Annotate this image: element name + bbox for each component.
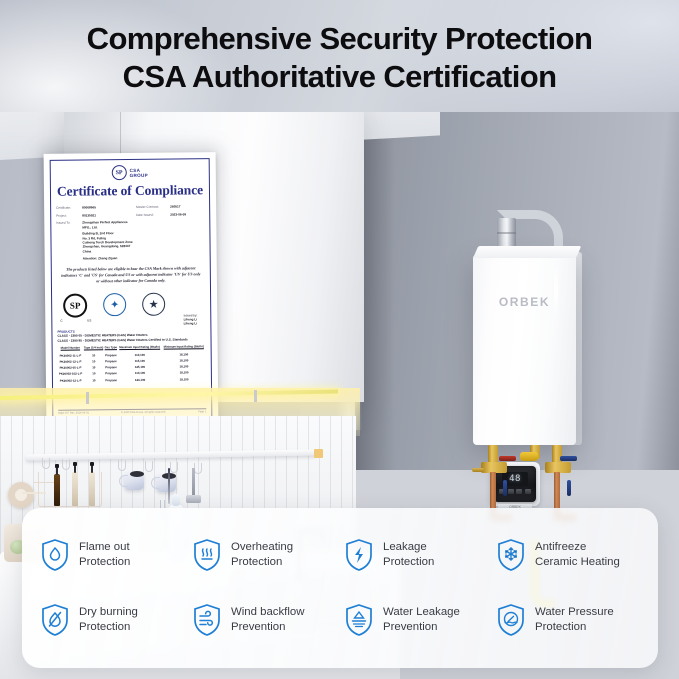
- feature-line-2: Prevention: [383, 620, 460, 635]
- field-value: 80135521: [82, 213, 136, 218]
- rail-hook: [170, 462, 178, 473]
- field-label: Project:: [56, 213, 82, 218]
- rack-shelf: [34, 482, 56, 483]
- class-line-2: CLASS - 2390 85 - DOMESTIC HEATERS (GAS)…: [58, 337, 206, 343]
- flue-seam: [497, 232, 516, 234]
- certificate-field-row: Project: 80135521 Date Issued: 2023-06-0…: [56, 212, 204, 218]
- valve-handle-red[interactable]: [499, 456, 516, 461]
- issued-to-label: Issued To:: [56, 221, 82, 230]
- feature-line-1: Flame out: [79, 541, 130, 553]
- feature-label: Overheating Protection: [231, 540, 293, 569]
- feature-line-1: Water Leakage: [383, 606, 460, 618]
- field-value2: 2023-06-09: [170, 212, 186, 217]
- feature-water-leakage-prevention: Water Leakage Prevention: [344, 587, 496, 652]
- feature-label: Antifreeze Ceramic Heating: [535, 540, 620, 569]
- rail-hook: [145, 461, 153, 472]
- issued-to-name: Zhongshan Perfect Appliances MFG., Ltd.: [82, 220, 136, 230]
- flame-icon: [40, 538, 70, 572]
- feature-line-1: Dry burning: [79, 606, 138, 618]
- certificate-title: Certificate of Compliance: [56, 182, 204, 200]
- kitchen-tool-handle: [192, 468, 195, 498]
- mark-us-label: US: [87, 318, 91, 322]
- issued-to-address: Building B, 2nd Floor No. 3 Rd, Fuling C…: [82, 231, 204, 254]
- feature-line-1: Wind backflow: [231, 606, 304, 618]
- csa-logo-line-2: GROUP: [130, 172, 148, 177]
- csa-mark-group: SP C US: [63, 293, 87, 317]
- issued-by-block: Issued by: Liheng Li Liheng Li: [184, 313, 198, 325]
- field-label2: Date Issued:: [136, 212, 170, 217]
- feature-label: Wind backflow Prevention: [231, 605, 304, 634]
- rail-hook: [62, 459, 70, 470]
- certificate-fields: Certificate: 80008665 Master Contract: 2…: [56, 204, 204, 230]
- feature-label: Water Pressure Protection: [535, 605, 614, 634]
- feature-wind-backflow-prevention: Wind backflow Prevention: [192, 587, 344, 652]
- heater-brand-logo: ORBEK: [473, 295, 576, 309]
- panel-button-up[interactable]: [516, 489, 522, 494]
- certificate-field-row: Certificate: 80008665 Master Contract: 2…: [56, 204, 204, 210]
- title-line-1: Comprehensive Security Protection: [87, 21, 593, 56]
- feature-water-pressure-protection: Water Pressure Protection: [496, 587, 648, 652]
- title-line-2: CSA Authoritative Certification: [0, 58, 679, 96]
- led-bracket: [254, 390, 257, 402]
- tankless-water-heater: [473, 255, 576, 445]
- field-label: Certificate:: [56, 206, 82, 211]
- feature-leakage-protection: Leakage Protection: [344, 522, 496, 587]
- rail-hook: [118, 460, 126, 471]
- kitchen-tool-head: [186, 495, 201, 503]
- temperature-value: 48: [509, 474, 521, 484]
- panel-button-mode[interactable]: [525, 489, 531, 494]
- cell: 10: [83, 377, 104, 383]
- field-value2: 260517: [170, 204, 180, 209]
- oil-bottle: [54, 474, 60, 506]
- wind-icon: [192, 603, 222, 637]
- feature-line-2: Protection: [383, 555, 434, 570]
- feature-line-2: Protection: [535, 620, 614, 635]
- rail-end-cap: [314, 449, 323, 458]
- panel-button-down[interactable]: [508, 489, 514, 494]
- field-value: 80008665: [82, 205, 136, 210]
- csa-roundel-icon: SP: [112, 165, 127, 180]
- cell: Propane: [104, 377, 118, 383]
- heater-highlight: [554, 263, 558, 319]
- snowflake-icon: [496, 538, 526, 572]
- rail-hook: [42, 458, 50, 469]
- feature-label: Leakage Protection: [383, 540, 434, 569]
- issued-by-name2: Liheng Li: [184, 321, 198, 325]
- rail-hook: [194, 463, 202, 474]
- blue-star-seal-icon: ✦: [103, 293, 126, 316]
- valve-handle-blue[interactable]: [560, 456, 577, 461]
- heater-top-face: [473, 246, 581, 258]
- dry-drop-icon: [40, 603, 70, 637]
- cell: PK20002-12-L-P: [58, 377, 84, 383]
- gauge-icon: [496, 603, 526, 637]
- feature-antifreeze-ceramic-heating: Antifreeze Ceramic Heating: [496, 522, 648, 587]
- product-infographic: Comprehensive Security Protection CSA Au…: [0, 0, 679, 679]
- feature-line-1: Leakage: [383, 541, 427, 553]
- feature-flame-out-protection: Flame out Protection: [40, 522, 192, 587]
- cell: 18,100: [162, 376, 206, 383]
- issued-to-row: Issued To: Zhongshan Perfect Appliances …: [56, 219, 204, 230]
- hanging-mug: [124, 472, 144, 490]
- drain-lever-left[interactable]: [503, 480, 507, 496]
- feature-line-1: Overheating: [231, 541, 293, 553]
- feature-label: Flame out Protection: [79, 540, 130, 569]
- feature-line-1: Water Pressure: [535, 606, 614, 618]
- attention-line: Attention: Zhang Zijuan: [83, 255, 205, 260]
- feature-line-2: Prevention: [231, 620, 304, 635]
- csa-group-logo: SP CSA GROUP: [56, 164, 204, 181]
- eligibility-paragraph: The products listed below are eligible t…: [57, 265, 205, 285]
- drain-lever-right[interactable]: [567, 480, 571, 496]
- heat-waves-icon: [192, 538, 222, 572]
- hanging-mug: [156, 474, 176, 492]
- field-label2: Master Contract:: [136, 205, 170, 210]
- lightning-icon: [344, 538, 374, 572]
- water-level-icon: [344, 603, 374, 637]
- paper-towel-roll: [8, 482, 34, 508]
- led-bracket: [86, 392, 89, 404]
- feature-dry-burning-protection: Dry burning Protection: [40, 587, 192, 652]
- gas-valve-handle[interactable]: [520, 452, 538, 461]
- products-table: Model Number Type (1/4 inch) Gas Type Ma…: [58, 345, 206, 383]
- feature-line-2: Protection: [231, 555, 293, 570]
- oil-bottle: [72, 472, 78, 506]
- soap-dispenser-cap: [172, 494, 180, 506]
- csa-certificate: SP CSA GROUP Certificate of Compliance C…: [44, 152, 219, 426]
- csa-mark-icon: SP: [63, 293, 87, 317]
- feature-line-2: Ceramic Heating: [535, 555, 620, 570]
- feature-label: Water Leakage Prevention: [383, 605, 460, 634]
- valve-lever-left[interactable]: [472, 468, 484, 472]
- features-card: Flame out Protection Overheating Protect…: [22, 508, 658, 668]
- dark-star-seal-icon: ★: [142, 293, 165, 316]
- cell: 124,100: [118, 376, 162, 383]
- products-section: PRODUCTS CLASS - 2390 05 - DOMESTIC HEAT…: [57, 328, 205, 343]
- table-row: PK20002-12-L-P 10 Propane 124,100 18,100: [58, 376, 206, 384]
- feature-overheating-protection: Overheating Protection: [192, 522, 344, 587]
- feature-line-1: Antifreeze: [535, 541, 586, 553]
- header-banner: Comprehensive Security Protection CSA Au…: [0, 0, 679, 112]
- feature-line-2: Protection: [79, 620, 138, 635]
- oil-bottle: [89, 472, 95, 506]
- mark-c-label: C: [60, 319, 62, 323]
- feature-line-2: Protection: [79, 555, 130, 570]
- page-title: Comprehensive Security Protection CSA Au…: [0, 20, 679, 96]
- feature-label: Dry burning Protection: [79, 605, 138, 634]
